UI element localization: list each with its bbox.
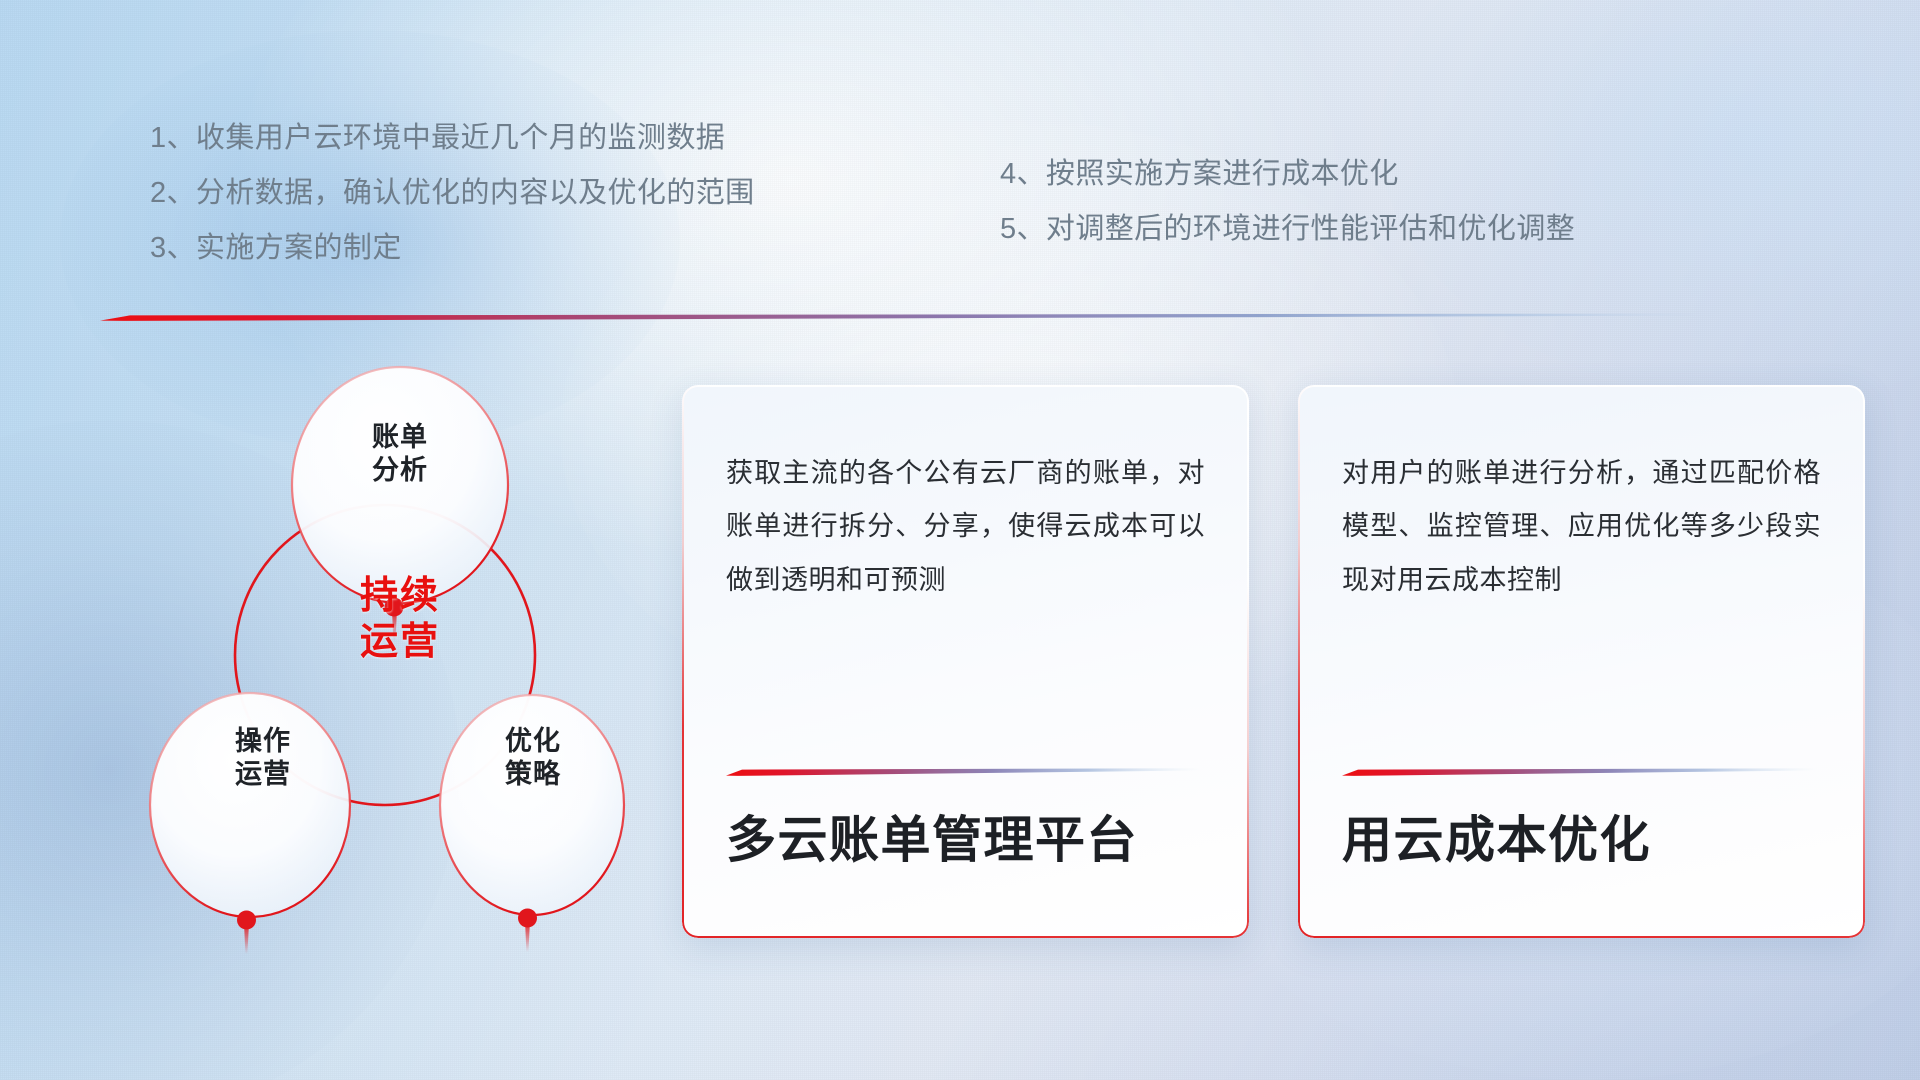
step-item-1: 1、收集用户云环境中最近几个月的监测数据 <box>150 124 755 153</box>
card-body-text: 获取主流的各个公有云厂商的账单，对账单进行拆分、分享，使得云成本可以做到透明和可… <box>726 447 1205 607</box>
feature-card-cloud-cost-optimization[interactable]: 对用户的账单进行分析，通过匹配价格模型、监控管理、应用优化等多少段实现对用云成本… <box>1298 385 1865 938</box>
steps-left-column: 1、收集用户云环境中最近几个月的监测数据 2、分析数据，确认优化的内容以及优化的… <box>150 124 755 263</box>
step-item-4: 4、按照实施方案进行成本优化 <box>1000 160 1575 189</box>
venn-label-bill-analysis: 账单 分析 <box>315 421 485 488</box>
venn-label-operations: 操作 运营 <box>178 725 348 792</box>
card-title: 多云账单管理平台 <box>726 800 1138 872</box>
venn-node-bottom-right <box>518 909 537 953</box>
steps-right-column: 4、按照实施方案进行成本优化 5、对调整后的环境进行性能评估和优化调整 <box>1000 160 1575 244</box>
venn-center-label: 持续 运营 <box>290 573 510 666</box>
feature-card-multi-cloud-billing-platform[interactable]: 获取主流的各个公有云厂商的账单，对账单进行拆分、分享，使得云成本可以做到透明和可… <box>682 385 1249 938</box>
card-body-text: 对用户的账单进行分析，通过匹配价格模型、监控管理、应用优化等多少段实现对用云成本… <box>1342 447 1821 607</box>
continuous-operations-venn-diagram: 账单 分析 操作 运营 优化 策略 持续 运营 <box>100 345 670 970</box>
card-divider <box>726 767 1203 776</box>
card-divider <box>1342 767 1819 776</box>
step-item-3: 3、实施方案的制定 <box>150 234 755 263</box>
venn-node-bottom-left <box>237 911 256 955</box>
step-item-5: 5、对调整后的环境进行性能评估和优化调整 <box>1000 215 1575 244</box>
step-item-2: 2、分析数据，确认优化的内容以及优化的范围 <box>150 179 755 208</box>
venn-label-optimization-strategy: 优化 策略 <box>448 725 618 792</box>
card-title: 用云成本优化 <box>1342 800 1651 872</box>
